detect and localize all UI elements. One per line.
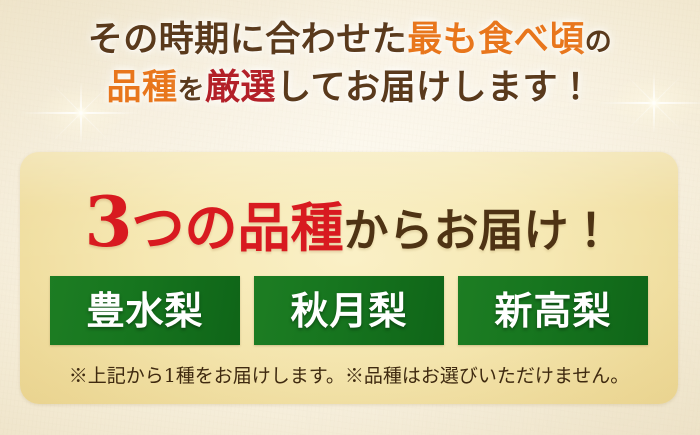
variety-badge-niitaka: 新高梨 — [458, 276, 648, 345]
headline-segment-ripest: 最も食べ頃 — [407, 19, 585, 60]
headline-segment-wo: を — [178, 75, 206, 106]
gold-panel: 3つの品種からお届け！ 豊水梨 秋月梨 新高梨 ※上記から1種をお届けします。※… — [20, 152, 678, 404]
promotional-banner: その時期に合わせた最も食べ頃の 品種を厳選してお届けします！ 3つの品種からお届… — [0, 0, 700, 435]
variety-badge-label: 秋月梨 — [290, 292, 407, 330]
variety-badge-row: 豊水梨 秋月梨 新高梨 — [50, 276, 648, 345]
variety-badge-hosui: 豊水梨 — [50, 276, 240, 345]
variety-badge-label: 豊水梨 — [86, 292, 203, 330]
headline-line-1: その時期に合わせた最も食べ頃の — [0, 22, 700, 58]
panel-title: 3つの品種からお届け！ — [20, 188, 678, 257]
headline-segment-deliver: してお届けします！ — [276, 67, 593, 108]
headline-line-2: 品種を厳選してお届けします！ — [0, 70, 700, 106]
panel-title-number: 3 — [84, 182, 131, 263]
variety-badge-akizuki: 秋月梨 — [254, 276, 444, 345]
panel-title-varieties: つの品種 — [132, 197, 344, 259]
headline-segment-no: の — [585, 27, 613, 58]
panel-title-delivery: からお届け！ — [344, 204, 614, 257]
headline-segment-variety: 品種 — [107, 67, 178, 108]
headline-segment-season: その時期に合わせた — [88, 19, 408, 60]
headline-segment-carefully-selected: 厳選 — [205, 67, 276, 108]
headline-block: その時期に合わせた最も食べ頃の 品種を厳選してお届けします！ — [0, 22, 700, 106]
footnote-text: ※上記から1種をお届けします。※品種はお選びいただけません。 — [20, 361, 678, 388]
variety-badge-label: 新高梨 — [494, 292, 611, 330]
